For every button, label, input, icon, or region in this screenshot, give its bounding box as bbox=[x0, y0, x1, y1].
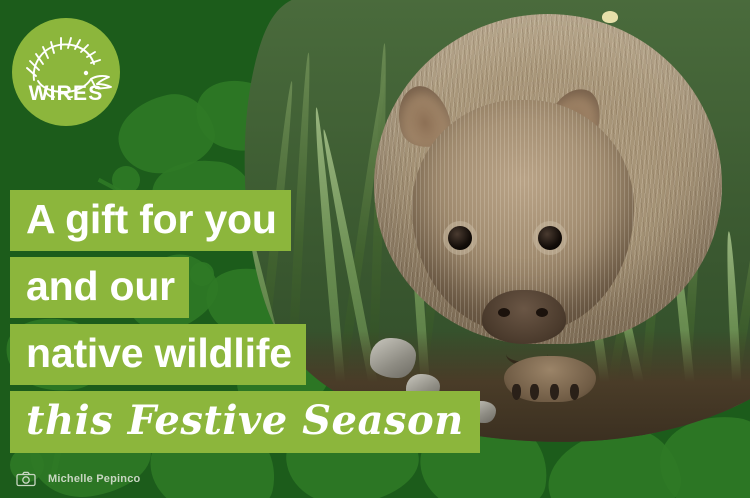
wires-logo[interactable]: WIRES bbox=[12, 18, 120, 126]
headline-line-1: A gift for you bbox=[10, 190, 480, 251]
camera-icon bbox=[16, 471, 36, 487]
headline-line-2: and our bbox=[10, 257, 480, 318]
wires-festive-banner: WIRES A gift for you and our native wild… bbox=[0, 0, 750, 498]
headline-text-4: this Festive Season bbox=[10, 391, 480, 453]
headline-line-4: this Festive Season bbox=[10, 391, 480, 453]
headline-line-3: native wildlife bbox=[10, 324, 480, 385]
headline-text-3: native wildlife bbox=[10, 324, 306, 385]
headline: A gift for you and our native wildlife t… bbox=[10, 190, 480, 459]
photo-credit: Michelle Pepinco bbox=[16, 471, 140, 487]
headline-text-1: A gift for you bbox=[10, 190, 291, 251]
wires-wordmark: WIRES bbox=[12, 82, 120, 106]
photo-credit-name: Michelle Pepinco bbox=[48, 473, 140, 485]
echidna-icon bbox=[12, 18, 120, 126]
headline-text-2: and our bbox=[10, 257, 189, 318]
